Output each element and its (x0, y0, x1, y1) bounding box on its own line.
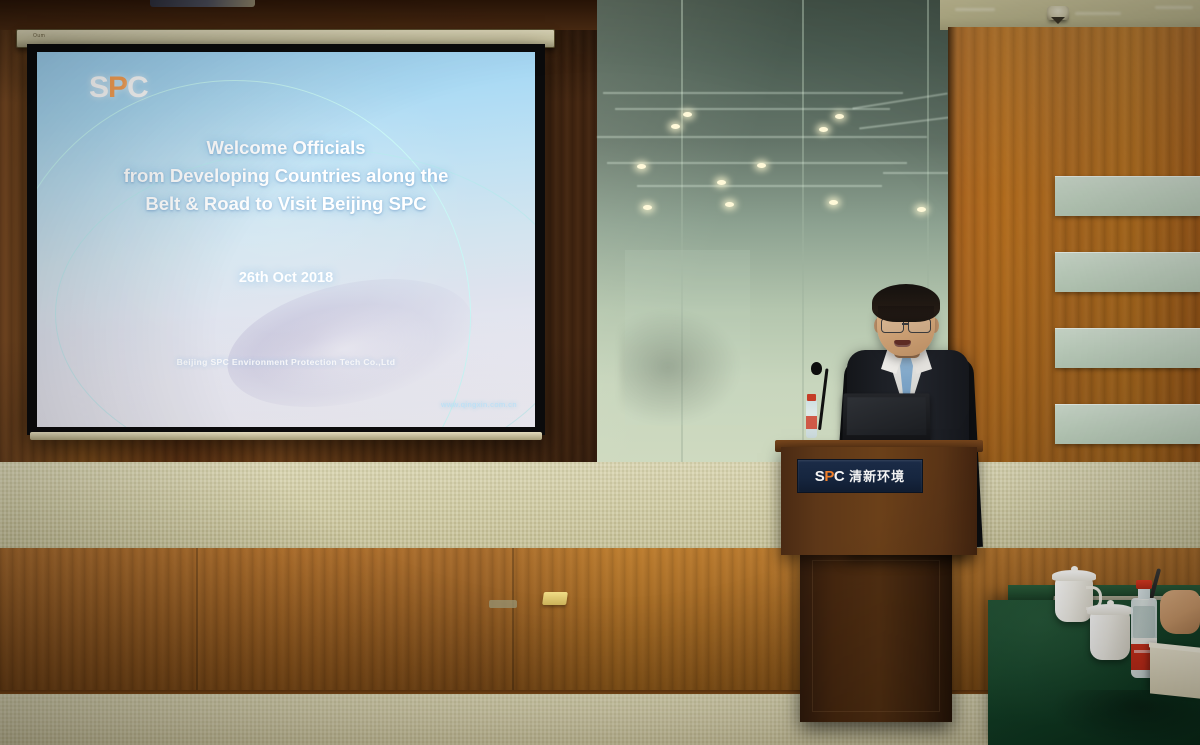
ceiling-light-reflection (725, 202, 734, 207)
hand-holding-pen (1160, 590, 1200, 634)
ceiling-light-reflection (643, 205, 652, 210)
ceiling-reflection (615, 108, 890, 110)
stage-panel-seam (196, 548, 198, 693)
ceiling-reflection (597, 136, 927, 138)
stage-panel-seam (512, 548, 514, 693)
ceiling-light-reflection (757, 163, 766, 168)
slide-title-line-2: from Developing Countries along the (49, 162, 523, 190)
slide-title: Welcome Officials from Developing Countr… (37, 134, 535, 218)
table-shadow (1050, 690, 1200, 745)
microphone-icon[interactable] (811, 362, 822, 375)
slide-title-line-3: Belt & Road to Visit Beijing SPC (49, 190, 523, 218)
ceiling-light-reflection (835, 114, 844, 119)
eyeglasses-bridge (902, 323, 908, 325)
slide-company-name: Beijing SPC Environment Protection Tech … (37, 357, 535, 367)
wall-glass-strip (1055, 252, 1200, 292)
slide-website-url: www.qingxin.com.cn (441, 400, 517, 409)
teacup-back[interactable] (1055, 578, 1093, 622)
projection-screen[interactable]: SPC Welcome Officials from Developing Co… (27, 44, 545, 435)
podium-logo-letter-c: C (834, 468, 844, 485)
ceiling-reflection (852, 93, 947, 110)
podium-chinese-name: 清新环境 (849, 470, 905, 483)
teacup-front[interactable] (1090, 612, 1130, 660)
podium-water-bottle[interactable] (806, 400, 817, 438)
podium-brand-sign: SPC 清新环境 (797, 459, 923, 493)
ceiling-reflection (637, 185, 882, 187)
slide-date: 26th Oct 2018 (37, 270, 535, 286)
ceiling-light-reflection (819, 127, 828, 132)
audience-silhouette-reflection (620, 310, 740, 425)
logo-letter-p: P (108, 71, 127, 104)
ceiling-light-reflection (829, 200, 838, 205)
logo-letter-c: C (127, 71, 148, 104)
ceiling-reflection (859, 117, 949, 130)
podium-spc-logo: SPC (815, 469, 844, 484)
stage-object-yellow-card (542, 592, 568, 605)
ceiling-light-reflection (917, 207, 926, 212)
ceiling-light-reflection (717, 180, 726, 185)
projection-screen-bottom-bar (30, 432, 542, 440)
logo-letter-s: S (89, 71, 108, 104)
ceiling-reflection (607, 162, 907, 164)
teacup-lid-knob (1071, 566, 1078, 572)
ceiling-light-reflection (637, 164, 646, 169)
wall-glass-strip (1055, 176, 1200, 216)
ceiling-panel (940, 0, 1200, 30)
presentation-slide: SPC Welcome Officials from Developing Co… (37, 52, 535, 427)
slide-spc-logo: SPC (89, 73, 148, 103)
ceiling-light-reflection (683, 112, 692, 117)
bottle-label (806, 416, 817, 429)
conference-room-photo: Oum SPC Welcome Officials from Developin… (0, 0, 1200, 745)
left-wall-upper-shadow (0, 0, 600, 30)
wall-glass-strip (1055, 404, 1200, 444)
stage-object-flat (489, 600, 517, 608)
ceiling-reflection (603, 92, 903, 94)
smoke-detector-icon (1047, 6, 1069, 20)
podium-base-column (800, 552, 952, 722)
speaker-mouth (894, 340, 911, 347)
ceiling-light-strip (1075, 12, 1121, 15)
speaker-hair (872, 284, 940, 322)
slide-title-line-1: Welcome Officials (49, 134, 523, 162)
wall-glass-strip (1055, 328, 1200, 368)
ceiling-light-strip (1155, 6, 1193, 9)
glass-mullion (802, 0, 804, 470)
bottle-cap-red (1136, 580, 1152, 589)
roller-label: Oum (33, 33, 45, 39)
ceiling-light-reflection (671, 124, 680, 129)
podium-logo-letter-s: S (815, 468, 825, 485)
ceiling-reflection (883, 172, 949, 174)
teacup-lid-knob (1107, 600, 1114, 606)
laptop-screen[interactable] (842, 393, 930, 440)
bottle-water (1133, 606, 1155, 638)
podium-logo-letter-p: P (824, 468, 834, 485)
ceiling-light-strip (955, 8, 995, 11)
bottle-cap (807, 394, 816, 401)
stage-platform-surface (0, 462, 1200, 550)
name-tent-card (1150, 645, 1200, 698)
ceiling-mounted-object (150, 0, 255, 7)
